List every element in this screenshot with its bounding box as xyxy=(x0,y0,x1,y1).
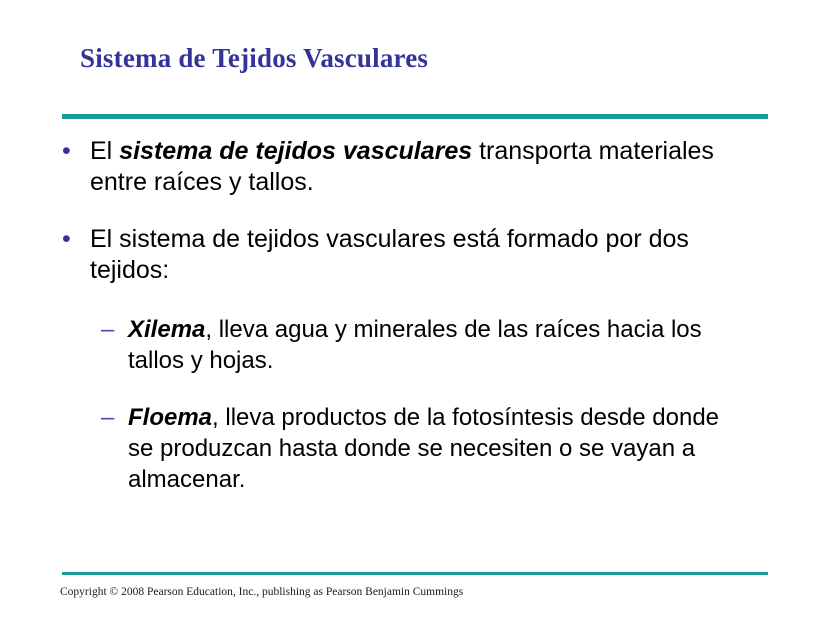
dash-marker-icon: – xyxy=(101,402,123,433)
body-spacer-2 xyxy=(0,302,828,314)
bullet-text-1: El sistema de tejidos vasculares transpo… xyxy=(90,137,714,196)
footer-divider-rule xyxy=(62,572,768,575)
header-divider-rule xyxy=(62,114,768,119)
body-spacer-1 xyxy=(0,214,828,224)
bullet-dot-icon: • xyxy=(62,224,80,255)
sub-bullet-floema-description: , lleva productos de la fotosíntesis des… xyxy=(128,404,719,493)
slide-body: • El sistema de tejidos vasculares trans… xyxy=(0,136,828,509)
sub-bullet-xilema-term: Xilema xyxy=(128,316,205,343)
sub-bullet-floema-term: Floema xyxy=(128,404,212,431)
bullet-item-2: • El sistema de tejidos vasculares está … xyxy=(0,224,828,286)
sub-bullet-text-floema: Floema, lleva productos de la fotosíntes… xyxy=(128,404,719,493)
sub-bullet-item-xilema: – Xilema, lleva agua y minerales de las … xyxy=(0,314,828,376)
bullet-item-1: • El sistema de tejidos vasculares trans… xyxy=(0,136,828,198)
sub-bullet-item-floema: – Floema, lleva productos de la fotosínt… xyxy=(0,402,828,495)
bullet-text-2: El sistema de tejidos vasculares está fo… xyxy=(90,225,689,284)
bullet-1-segment-0: El xyxy=(90,137,119,165)
dash-marker-icon: – xyxy=(101,314,123,345)
slide: Sistema de Tejidos Vasculares • El siste… xyxy=(0,0,828,640)
copyright-notice: Copyright © 2008 Pearson Education, Inc.… xyxy=(60,585,463,599)
page-title: Sistema de Tejidos Vasculares xyxy=(80,42,428,74)
body-spacer-3 xyxy=(0,390,828,402)
bullet-1-segment-1-emphasis: sistema de tejidos vasculares xyxy=(119,137,472,165)
bullet-dot-icon: • xyxy=(62,136,80,167)
sub-bullet-xilema-description: , lleva agua y minerales de las raíces h… xyxy=(128,316,702,374)
sub-bullet-text-xilema: Xilema, lleva agua y minerales de las ra… xyxy=(128,316,702,374)
